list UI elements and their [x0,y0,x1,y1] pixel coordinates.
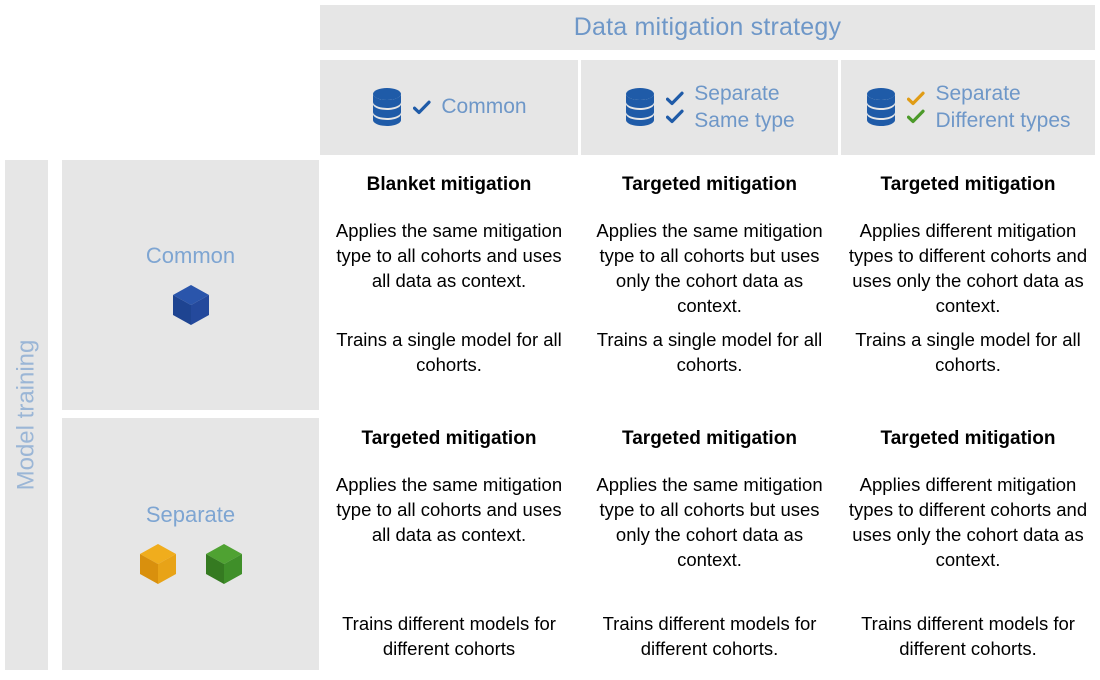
cube-icon-blue [170,283,212,327]
check-group [666,91,684,125]
cell-heading: Targeted mitigation [881,174,1056,197]
database-double-check-icon [624,86,684,130]
cell-heading: Targeted mitigation [881,428,1056,451]
column-axis-title-text: Data mitigation strategy [574,13,841,42]
cell-heading: Targeted mitigation [622,174,797,197]
check-icon-green [907,109,925,125]
cell-footer: Trains different models for different co… [581,612,838,662]
cube-icon-green [203,542,245,586]
cell-heading: Targeted mitigation [362,428,537,451]
cell-heading: Blanket mitigation [367,174,532,197]
column-header-line1: Separate [935,82,1020,105]
column-header-separate-different-types: Separate Different types [841,60,1095,155]
column-header-label: Separate Same type [694,81,794,134]
column-header-line1: Common [441,95,526,118]
check-icon [666,109,684,125]
check-icon [666,91,684,107]
column-axis-title: Data mitigation strategy [320,5,1095,50]
column-header-common: Common [320,60,578,155]
cell-body: Applies different mitigation types to di… [847,473,1089,573]
column-header-line2: Same type [694,108,794,134]
column-header-label: Common [441,94,526,120]
row-axis-title-text: Model training [13,340,41,491]
row-header-label: Common [146,243,235,269]
cube-group [170,283,212,327]
cell-body: Applies different mitigation types to di… [847,219,1089,319]
cell-footer: Trains a single model for all cohorts. [320,328,578,378]
row-header-separate: Separate [62,418,319,670]
cell-footer: Trains different models for different co… [320,612,578,662]
row-header-label: Separate [146,502,235,528]
check-group [907,91,925,125]
matrix-cell-0-2: Targeted mitigation Applies different mi… [841,166,1095,410]
column-header-line2: Different types [935,108,1070,134]
database-multi-check-icon [865,86,925,130]
cube-icon-orange [137,542,179,586]
check-group [413,100,431,116]
row-header-common: Common [62,160,319,410]
cell-footer: Trains a single model for all cohorts. [841,328,1095,378]
cell-footer: Trains different models for different co… [841,612,1095,662]
cube-group [137,542,245,586]
mitigation-strategy-matrix: Data mitigation strategy Model training [0,0,1100,680]
database-check-icon [371,86,431,130]
matrix-cell-1-0: Targeted mitigation Applies the same mit… [320,420,578,670]
check-icon [413,100,431,116]
matrix-cell-1-1: Targeted mitigation Applies the same mit… [581,420,838,670]
matrix-cell-0-1: Targeted mitigation Applies the same mit… [581,166,838,410]
row-axis-title: Model training [5,160,48,670]
cell-body: Applies the same mitigation type to all … [587,473,832,573]
cell-footer: Trains a single model for all cohorts. [581,328,838,378]
column-header-line1: Separate [694,82,779,105]
column-header-label: Separate Different types [935,81,1070,134]
cell-heading: Targeted mitigation [622,428,797,451]
matrix-cell-1-2: Targeted mitigation Applies different mi… [841,420,1095,670]
matrix-cell-0-0: Blanket mitigation Applies the same miti… [320,166,578,410]
cell-body: Applies the same mitigation type to all … [326,219,572,294]
column-header-separate-same-type: Separate Same type [581,60,838,155]
cell-body: Applies the same mitigation type to all … [587,219,832,319]
cell-body: Applies the same mitigation type to all … [326,473,572,548]
check-icon-orange [907,91,925,107]
